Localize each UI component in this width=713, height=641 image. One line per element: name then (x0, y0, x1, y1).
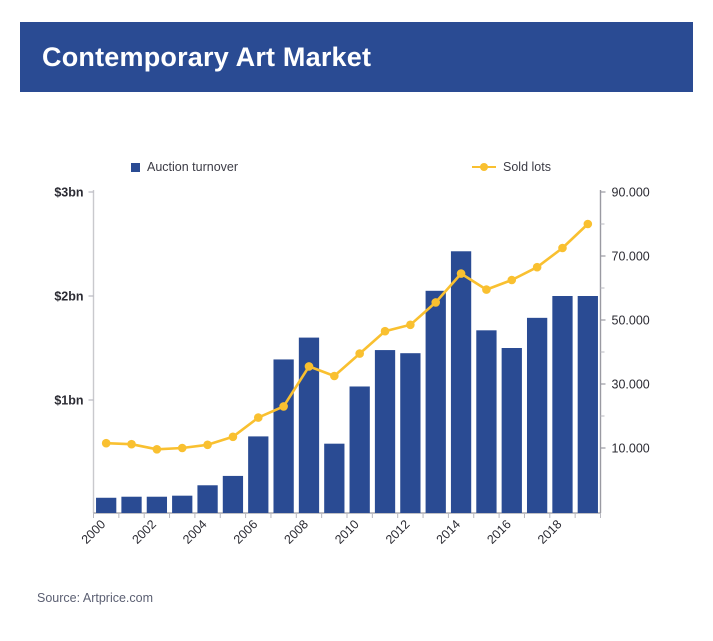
bar-series-auction-turnover (96, 251, 598, 513)
line-point-2004 (203, 441, 212, 450)
bar-2002 (147, 497, 167, 513)
line-point-2009 (330, 372, 339, 381)
bar-2003 (172, 496, 192, 513)
x-tick-2010: 2010 (332, 517, 362, 547)
x-tick-2008: 2008 (282, 517, 312, 547)
bar-2005 (223, 476, 243, 513)
x-tick-2012: 2012 (383, 517, 413, 547)
line-point-2002 (153, 445, 162, 454)
bar-2015 (476, 330, 496, 513)
line-point-2011 (381, 327, 390, 336)
y-axis-left-labels: $1bn$2bn$3bn (54, 186, 83, 408)
bar-2013 (426, 291, 446, 513)
y-right-tick-90.000: 90.000 (612, 186, 650, 200)
x-tick-2014: 2014 (434, 517, 464, 547)
bar-2004 (197, 485, 217, 513)
y-right-tick-10.000: 10.000 (612, 442, 650, 456)
y-axis-right-labels: 10.00030.00050.00070.00090.000 (612, 186, 650, 456)
line-point-2008 (305, 362, 314, 371)
line-point-2013 (431, 298, 440, 307)
bar-2011 (375, 350, 395, 513)
bar-2010 (350, 386, 370, 513)
line-point-2007 (279, 402, 288, 411)
bar-2009 (324, 444, 344, 513)
x-tick-2006: 2006 (231, 517, 261, 547)
bar-2016 (502, 348, 522, 513)
chart-svg: $1bn$2bn$3bn 10.00030.00050.00070.00090.… (0, 0, 713, 641)
line-point-2000 (102, 439, 111, 448)
bar-2006 (248, 436, 268, 513)
y-left-tick-$2bn: $2bn (54, 290, 83, 304)
bar-2018 (552, 296, 572, 513)
bar-2014 (451, 251, 471, 513)
y-left-tick-$1bn: $1bn (54, 394, 83, 408)
line-point-2014 (457, 269, 466, 278)
bar-2000 (96, 498, 116, 513)
bar-2001 (121, 497, 141, 513)
x-tick-2004: 2004 (180, 517, 210, 547)
x-tick-2018: 2018 (535, 517, 565, 547)
y-right-tick-30.000: 30.000 (612, 378, 650, 392)
line-point-2016 (507, 276, 516, 285)
line-point-2015 (482, 285, 491, 294)
bar-2017 (527, 318, 547, 513)
x-tick-2000: 2000 (79, 517, 109, 547)
line-point-2017 (533, 263, 542, 272)
line-point-2019 (584, 220, 593, 229)
bar-2012 (400, 353, 420, 513)
chart-page: Contemporary Art Market Auction turnover… (0, 0, 713, 641)
y-right-tick-50.000: 50.000 (612, 314, 650, 328)
bar-2019 (578, 296, 598, 513)
line-point-2010 (355, 349, 364, 358)
y-left-tick-$3bn: $3bn (54, 186, 83, 200)
x-tick-2002: 2002 (129, 517, 159, 547)
bar-2007 (273, 359, 293, 513)
source-note: Source: Artprice.com (37, 591, 153, 605)
line-point-2005 (229, 433, 238, 442)
line-point-2001 (127, 440, 136, 449)
line-point-2018 (558, 244, 567, 253)
chart-plot-area: $1bn$2bn$3bn 10.00030.00050.00070.00090.… (0, 0, 713, 641)
line-point-2003 (178, 444, 187, 453)
line-point-2006 (254, 413, 263, 422)
x-axis-labels: 2000200220042006200820102012201420162018 (79, 517, 565, 547)
line-point-2012 (406, 321, 415, 330)
y-right-tick-70.000: 70.000 (612, 250, 650, 264)
x-tick-2016: 2016 (484, 517, 514, 547)
